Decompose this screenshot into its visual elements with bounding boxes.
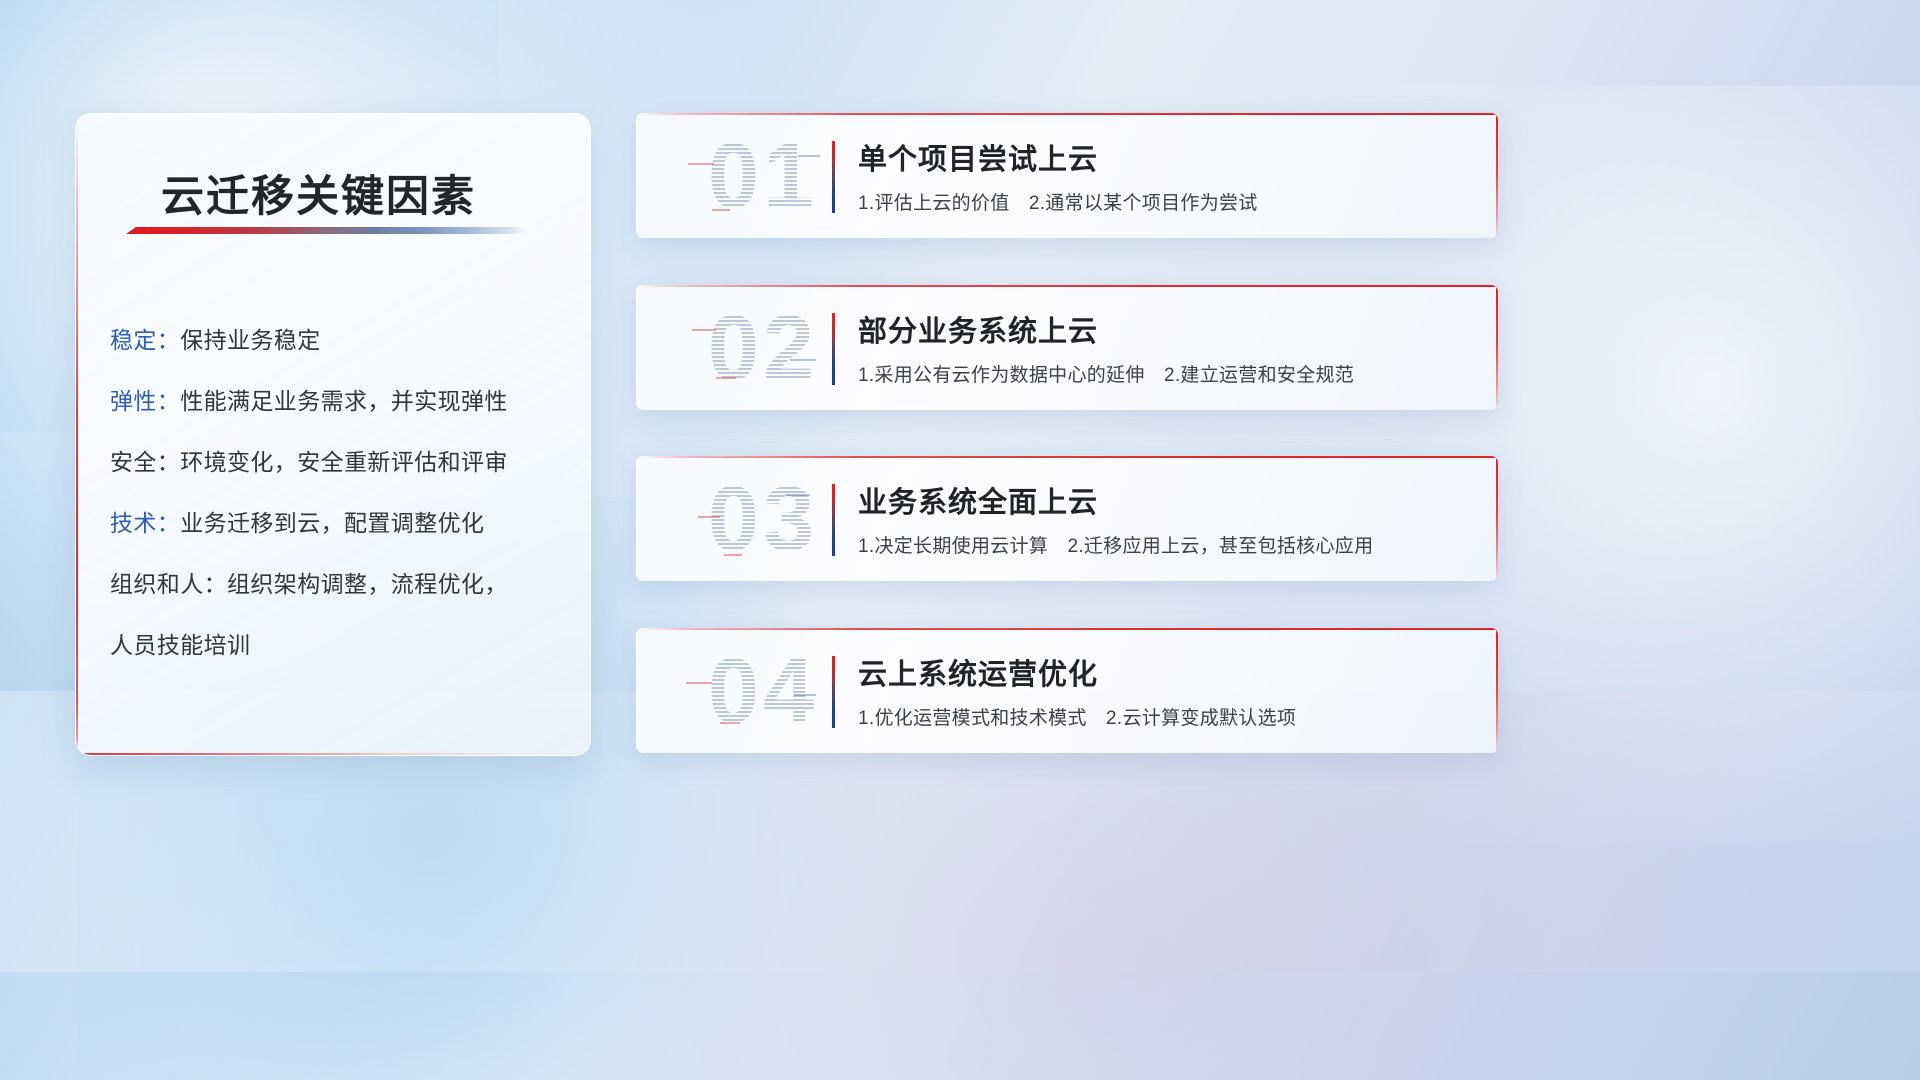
fact-body: 业务迁移到云，配置调整优化 <box>180 510 484 536</box>
step-desc-02: 1.采用公有云作为数据中心的延伸 2.建立运营和安全规范 <box>858 360 1354 387</box>
list-item-continuation: 人员技能培训 <box>110 615 580 676</box>
step-divider-01 <box>832 141 835 213</box>
step-card-02[interactable]: 02 部分业务系统上云 1.采用公有云作为数据中心的延伸 2.建立运营和安全规范 <box>636 285 1498 410</box>
card-top-accent <box>636 113 1498 115</box>
list-item: 安全：环境变化，安全重新评估和评审 <box>110 432 580 493</box>
step-desc-04: 1.优化运营模式和技术模式 2.云计算变成默认选项 <box>858 703 1296 730</box>
key-factors-panel: 云迁移关键因素 稳定：保持业务稳定 弹性：性能满足业务需求，并实现弹性 安全：环… <box>75 113 591 756</box>
step-title-04: 云上系统运营优化 <box>858 651 1098 693</box>
step-number-ghost-04: 04 <box>658 632 868 750</box>
panel-left-accent-bar <box>76 114 78 755</box>
card-top-accent <box>636 285 1498 287</box>
step-card-01[interactable]: 01 单个项目尝试上云 1.评估上云的价值 2.通常以某个项目作为尝试 <box>636 113 1498 238</box>
fact-body: 人员技能培训 <box>110 632 250 658</box>
fact-label: 稳定： <box>110 327 180 353</box>
title-underline-gradient <box>126 227 526 234</box>
card-right-accent <box>1496 456 1498 581</box>
card-left-highlight <box>636 628 638 753</box>
slide-stage: 云迁移关键因素 稳定：保持业务稳定 弹性：性能满足业务需求，并实现弹性 安全：环… <box>0 0 1920 1080</box>
fact-body: 组织架构调整，流程优化， <box>227 571 508 597</box>
step-card-03[interactable]: 03 业务系统全面上云 1.决定长期使用云计算 2.迁移应用上云，甚至包括核心应… <box>636 456 1498 581</box>
step-desc-03: 1.决定长期使用云计算 2.迁移应用上云，甚至包括核心应用 <box>858 531 1373 558</box>
panel-bottom-accent-bar <box>76 753 590 755</box>
card-left-highlight <box>636 285 638 410</box>
fact-label: 组织和人： <box>110 571 227 597</box>
fact-label: 安全： <box>110 449 180 475</box>
step-number-ghost-02: 02 <box>658 289 868 407</box>
key-factors-list: 稳定：保持业务稳定 弹性：性能满足业务需求，并实现弹性 安全：环境变化，安全重新… <box>110 310 580 676</box>
step-card-04[interactable]: 04 云上系统运营优化 1.优化运营模式和技术模式 2.云计算变成默认选项 <box>636 628 1498 753</box>
step-title-03: 业务系统全面上云 <box>858 479 1098 521</box>
step-title-02: 部分业务系统上云 <box>858 308 1098 350</box>
step-divider-04 <box>832 656 835 728</box>
list-item: 稳定：保持业务稳定 <box>110 310 580 371</box>
fact-body: 环境变化，安全重新评估和评审 <box>180 449 508 475</box>
fact-label: 弹性： <box>110 388 180 414</box>
list-item: 组织和人：组织架构调整，流程优化， <box>110 554 580 615</box>
step-number-ghost-03: 03 <box>658 460 868 578</box>
card-right-accent <box>1496 628 1498 753</box>
page-title: 云迁移关键因素 <box>161 162 476 224</box>
card-right-accent <box>1496 113 1498 238</box>
card-right-accent <box>1496 285 1498 410</box>
fact-body: 性能满足业务需求，并实现弹性 <box>180 388 508 414</box>
card-left-highlight <box>636 456 638 581</box>
fact-body: 保持业务稳定 <box>180 327 320 353</box>
list-item: 技术：业务迁移到云，配置调整优化 <box>110 493 580 554</box>
step-number-ghost-01: 01 <box>658 117 868 235</box>
card-left-highlight <box>636 113 638 238</box>
card-top-accent <box>636 456 1498 458</box>
step-divider-02 <box>832 313 835 385</box>
list-item: 弹性：性能满足业务需求，并实现弹性 <box>110 371 580 432</box>
card-top-accent <box>636 628 1498 630</box>
step-title-01: 单个项目尝试上云 <box>858 136 1098 178</box>
step-desc-01: 1.评估上云的价值 2.通常以某个项目作为尝试 <box>858 188 1258 215</box>
fact-label: 技术： <box>110 510 180 536</box>
step-divider-03 <box>832 484 835 556</box>
